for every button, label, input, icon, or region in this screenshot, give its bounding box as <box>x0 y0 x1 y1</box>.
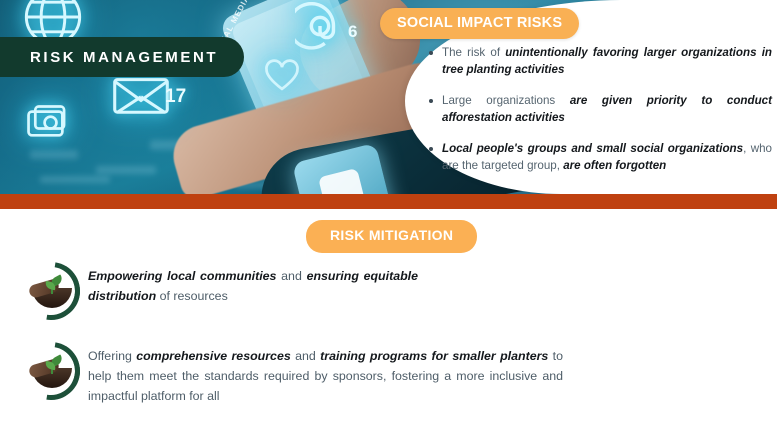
risk-bullet-list: The risk of unintentionally favoring lar… <box>428 44 772 187</box>
risk-bullet-text: Large organizations are given priority t… <box>442 92 772 127</box>
orange-divider <box>0 194 777 209</box>
mitigation-list: Empowering local communities and ensurin… <box>20 260 760 424</box>
risk-management-banner: RISK MANAGEMENT <box>0 37 244 77</box>
risk-bullet-item: The risk of unintentionally favoring lar… <box>428 44 772 79</box>
at-badge-count: 6 <box>348 22 357 42</box>
mitigation-text-block: Offering comprehensive resources and tra… <box>88 340 760 406</box>
slide-root: SOCIAL MEDIA 17 <box>0 0 777 434</box>
risk-bullet-text: Local people's groups and small social o… <box>442 140 772 175</box>
social-impact-risks-label: SOCIAL IMPACT RISKS <box>397 15 562 31</box>
heart-icon <box>262 58 302 92</box>
seedling-circle-logo <box>20 340 82 402</box>
mitigation-text: Empowering local communities and ensurin… <box>88 266 418 306</box>
hero-banner: SOCIAL MEDIA 17 <box>0 0 777 194</box>
risk-bullet-text: The risk of unintentionally favoring lar… <box>442 44 772 79</box>
mitigation-item: Empowering local communities and ensurin… <box>20 260 760 322</box>
risk-bullet-item: Large organizations are given priority t… <box>428 92 772 127</box>
risk-bullet-item: Local people's groups and small social o… <box>428 140 772 175</box>
risk-management-label: RISK MANAGEMENT <box>30 49 218 66</box>
mitigation-text-block: Empowering local communities and ensurin… <box>88 260 760 306</box>
risk-mitigation-badge: RISK MITIGATION <box>306 220 477 253</box>
mail-badge-count: 17 <box>165 86 186 108</box>
social-impact-risks-badge: SOCIAL IMPACT RISKS <box>380 8 579 39</box>
risk-mitigation-label: RISK MITIGATION <box>330 227 453 243</box>
mitigation-item: Offering comprehensive resources and tra… <box>20 340 760 406</box>
mail-icon <box>112 76 170 116</box>
at-sign-icon <box>295 2 345 52</box>
camera-icon <box>26 104 70 142</box>
mitigation-text: Offering comprehensive resources and tra… <box>88 346 563 406</box>
seedling-circle-logo <box>20 260 82 322</box>
